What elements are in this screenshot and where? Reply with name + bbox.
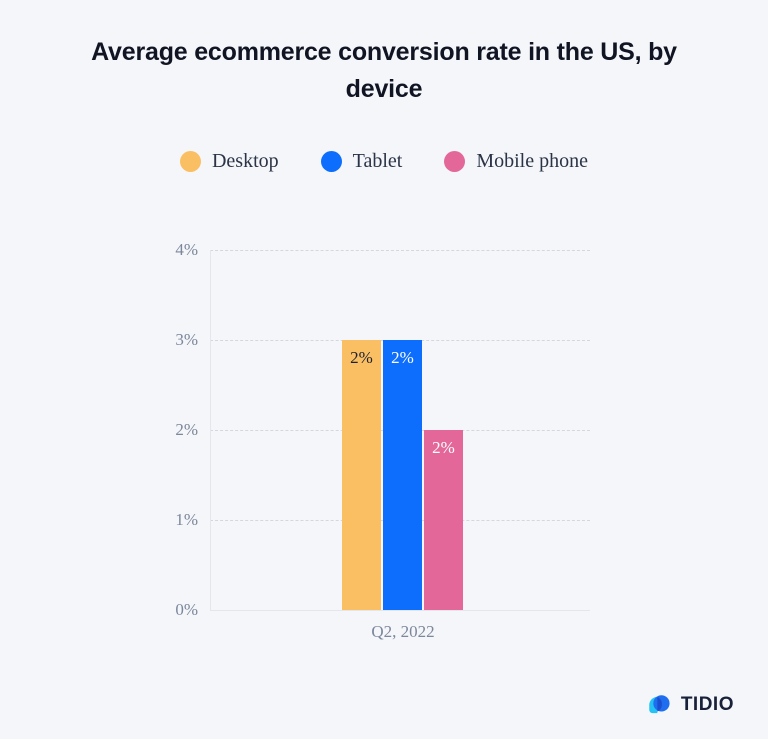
bar-mobile-phone[interactable]: 2% — [424, 430, 463, 610]
x-axis-line — [210, 610, 590, 611]
bar-group-q2-2022: 2% 2% 2% — [342, 250, 464, 610]
y-tick-2: 2% — [156, 420, 198, 440]
y-tick-4: 4% — [156, 240, 198, 260]
y-tick-0: 0% — [156, 600, 198, 620]
bar-label-tablet: 2% — [383, 348, 422, 368]
bar-tablet[interactable]: 2% — [383, 340, 422, 610]
bar-desktop[interactable]: 2% — [342, 340, 381, 610]
y-axis-ticks: 4% 3% 2% 1% 0% — [150, 250, 198, 610]
tidio-mark-icon — [646, 692, 672, 718]
bar-label-mobile-phone: 2% — [424, 438, 463, 458]
bar-label-desktop: 2% — [342, 348, 381, 368]
x-tick-q2-2022: Q2, 2022 — [283, 622, 523, 642]
tidio-wordmark: TIDIO — [681, 694, 734, 716]
chart-page: Average ecommerce conversion rate in the… — [0, 0, 768, 739]
bar-chart: 4% 3% 2% 1% 0% 2% 2% 2% Q2, 2022 — [0, 0, 768, 739]
y-tick-1: 1% — [156, 510, 198, 530]
y-tick-3: 3% — [156, 330, 198, 350]
y-axis-line — [210, 250, 211, 610]
tidio-logo: TIDIO — [646, 692, 734, 718]
